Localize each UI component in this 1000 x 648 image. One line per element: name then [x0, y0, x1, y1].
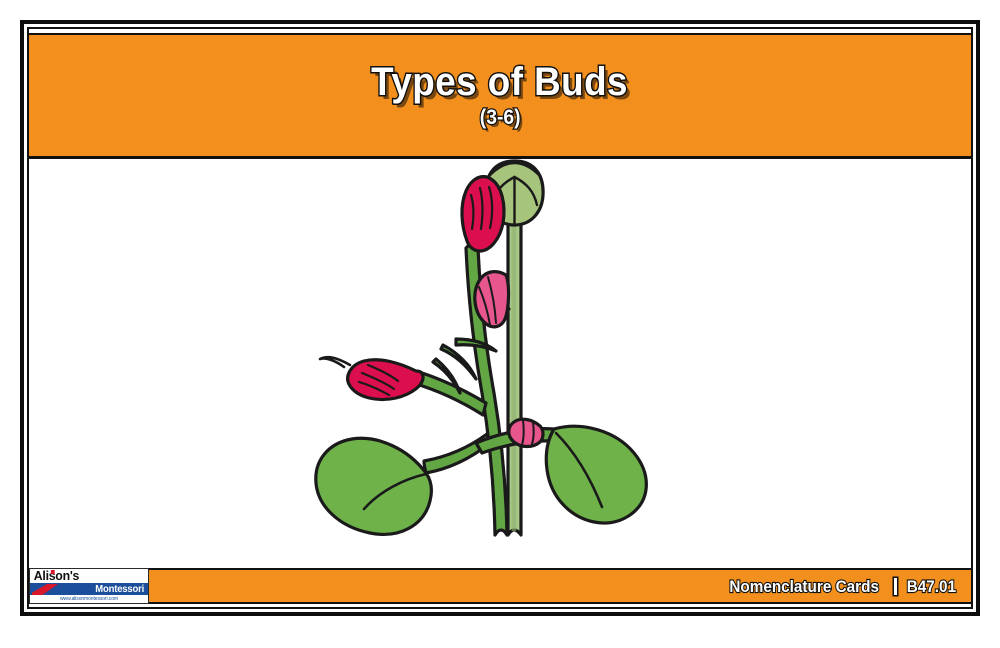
alisons-montessori-logo[interactable]: Alison's Montessori www.alisonmontessori…: [29, 568, 149, 604]
axillary-bud-pink-upper: [475, 272, 509, 327]
card-footer-band: Alison's Montessori www.alisonmontessori…: [29, 568, 971, 604]
illustration-area: [29, 159, 971, 547]
logo-montessori-label: Montessori: [95, 584, 144, 595]
logo-website-url: www.alisonmontessori.com: [30, 595, 148, 603]
logo-swoosh-icon: [32, 584, 58, 595]
page-title: Types of Buds: [372, 61, 629, 103]
logo-i-dot-icon: [51, 570, 55, 574]
series-label: Nomenclature Cards: [729, 578, 879, 595]
footer-meta: Nomenclature Cards B47.01: [721, 578, 971, 595]
footer-divider: [894, 578, 897, 595]
card-frame-inner: Types of Buds (3-6): [27, 27, 973, 609]
logo-brand-text: Alison's: [30, 569, 142, 583]
page-subtitle-age-range: (3-6): [480, 107, 521, 129]
plant-buds-illustration: [290, 143, 710, 563]
bud-lower-tip-curl: [320, 357, 350, 367]
logo-montessori-band: Montessori: [30, 583, 148, 595]
card-frame-outer: Types of Buds (3-6): [20, 20, 980, 616]
nomenclature-card: Types of Buds (3-6): [0, 0, 1000, 648]
leaf-left: [316, 438, 432, 534]
leaf-right: [546, 426, 646, 523]
card-code-label: B47.01: [907, 578, 956, 595]
card-frame-middle: Types of Buds (3-6): [24, 24, 976, 612]
card-body: Types of Buds (3-6): [29, 29, 971, 607]
logo-brand-label: Alison's: [34, 568, 79, 583]
axillary-bud-pink-lower: [509, 419, 543, 446]
card-header-band: Types of Buds (3-6): [29, 33, 971, 159]
